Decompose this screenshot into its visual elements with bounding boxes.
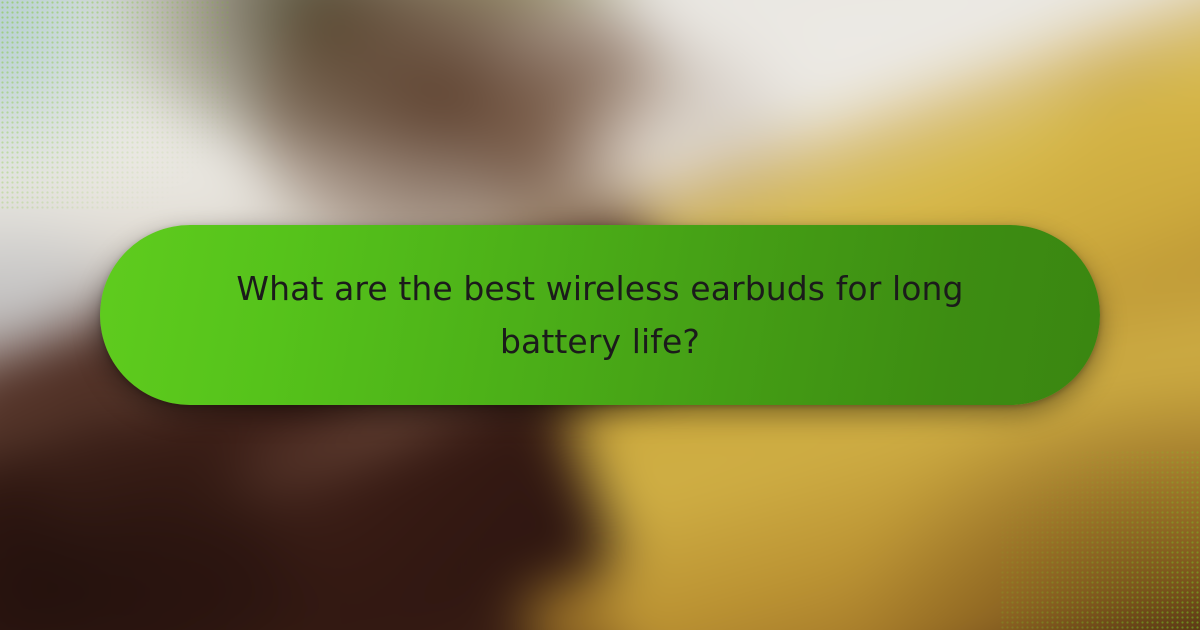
- banner-canvas: What are the best wireless earbuds for l…: [0, 0, 1200, 630]
- headline-text: What are the best wireless earbuds for l…: [220, 262, 980, 369]
- headline-pill: What are the best wireless earbuds for l…: [100, 225, 1100, 405]
